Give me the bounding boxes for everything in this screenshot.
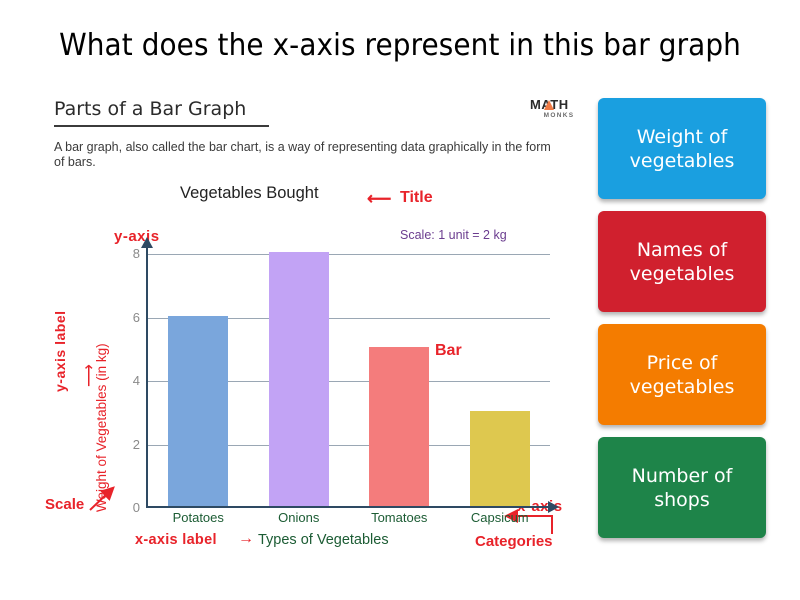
answer-option-label: Weight of vegetables <box>598 125 766 173</box>
scale-annotation-label: Scale <box>45 496 84 513</box>
y-axis-label-annotation: y‑axis label <box>52 311 68 393</box>
answer-option-label: Names of vegetables <box>598 238 766 286</box>
x-axis-category-label: Potatoes <box>143 510 253 525</box>
chart-title: Vegetables Bought <box>180 184 319 203</box>
answer-option-1[interactable]: Weight of vegetables <box>598 98 766 199</box>
bar-chart: Vegetables Bought ⟵ Title y‑axis y‑axis … <box>34 92 579 562</box>
answer-option-4[interactable]: Number of shops <box>598 437 766 538</box>
infographic-card: Parts of a Bar Graph A bar graph, also c… <box>34 92 579 562</box>
answer-option-2[interactable]: Names of vegetables <box>598 211 766 312</box>
answer-option-label: Number of shops <box>598 464 766 512</box>
x-axis-label-annotation: x‑axis label <box>135 532 217 548</box>
answer-option-label: Price of vegetables <box>598 351 766 399</box>
answer-option-3[interactable]: Price of vegetables <box>598 324 766 425</box>
plot-area: Scale: 1 unit = 2 kg 02468 PotatoesOnion… <box>112 252 542 508</box>
x-axis-title: Types of Vegetables <box>258 532 389 548</box>
page-title: What does the x-axis represent in this b… <box>28 28 772 63</box>
scale-note: Scale: 1 unit = 2 kg <box>400 228 507 242</box>
answer-options: Weight of vegetablesNames of vegetablesP… <box>598 98 768 550</box>
x-axis-category-label: Tomatoes <box>344 510 454 525</box>
x-axis-category-label: Onions <box>244 510 354 525</box>
y-axis-arrowhead-icon <box>141 237 153 248</box>
x-axis-category-labels: PotatoesOnionsTomatoesCapsicum <box>112 252 542 508</box>
x-axis-category-label: Capsicum <box>445 510 555 525</box>
title-annotation-arrow-icon: ⟵ <box>367 190 391 207</box>
x-axis-label-annotation-arrow-icon: → <box>238 531 254 547</box>
title-annotation-label: Title <box>400 189 433 207</box>
